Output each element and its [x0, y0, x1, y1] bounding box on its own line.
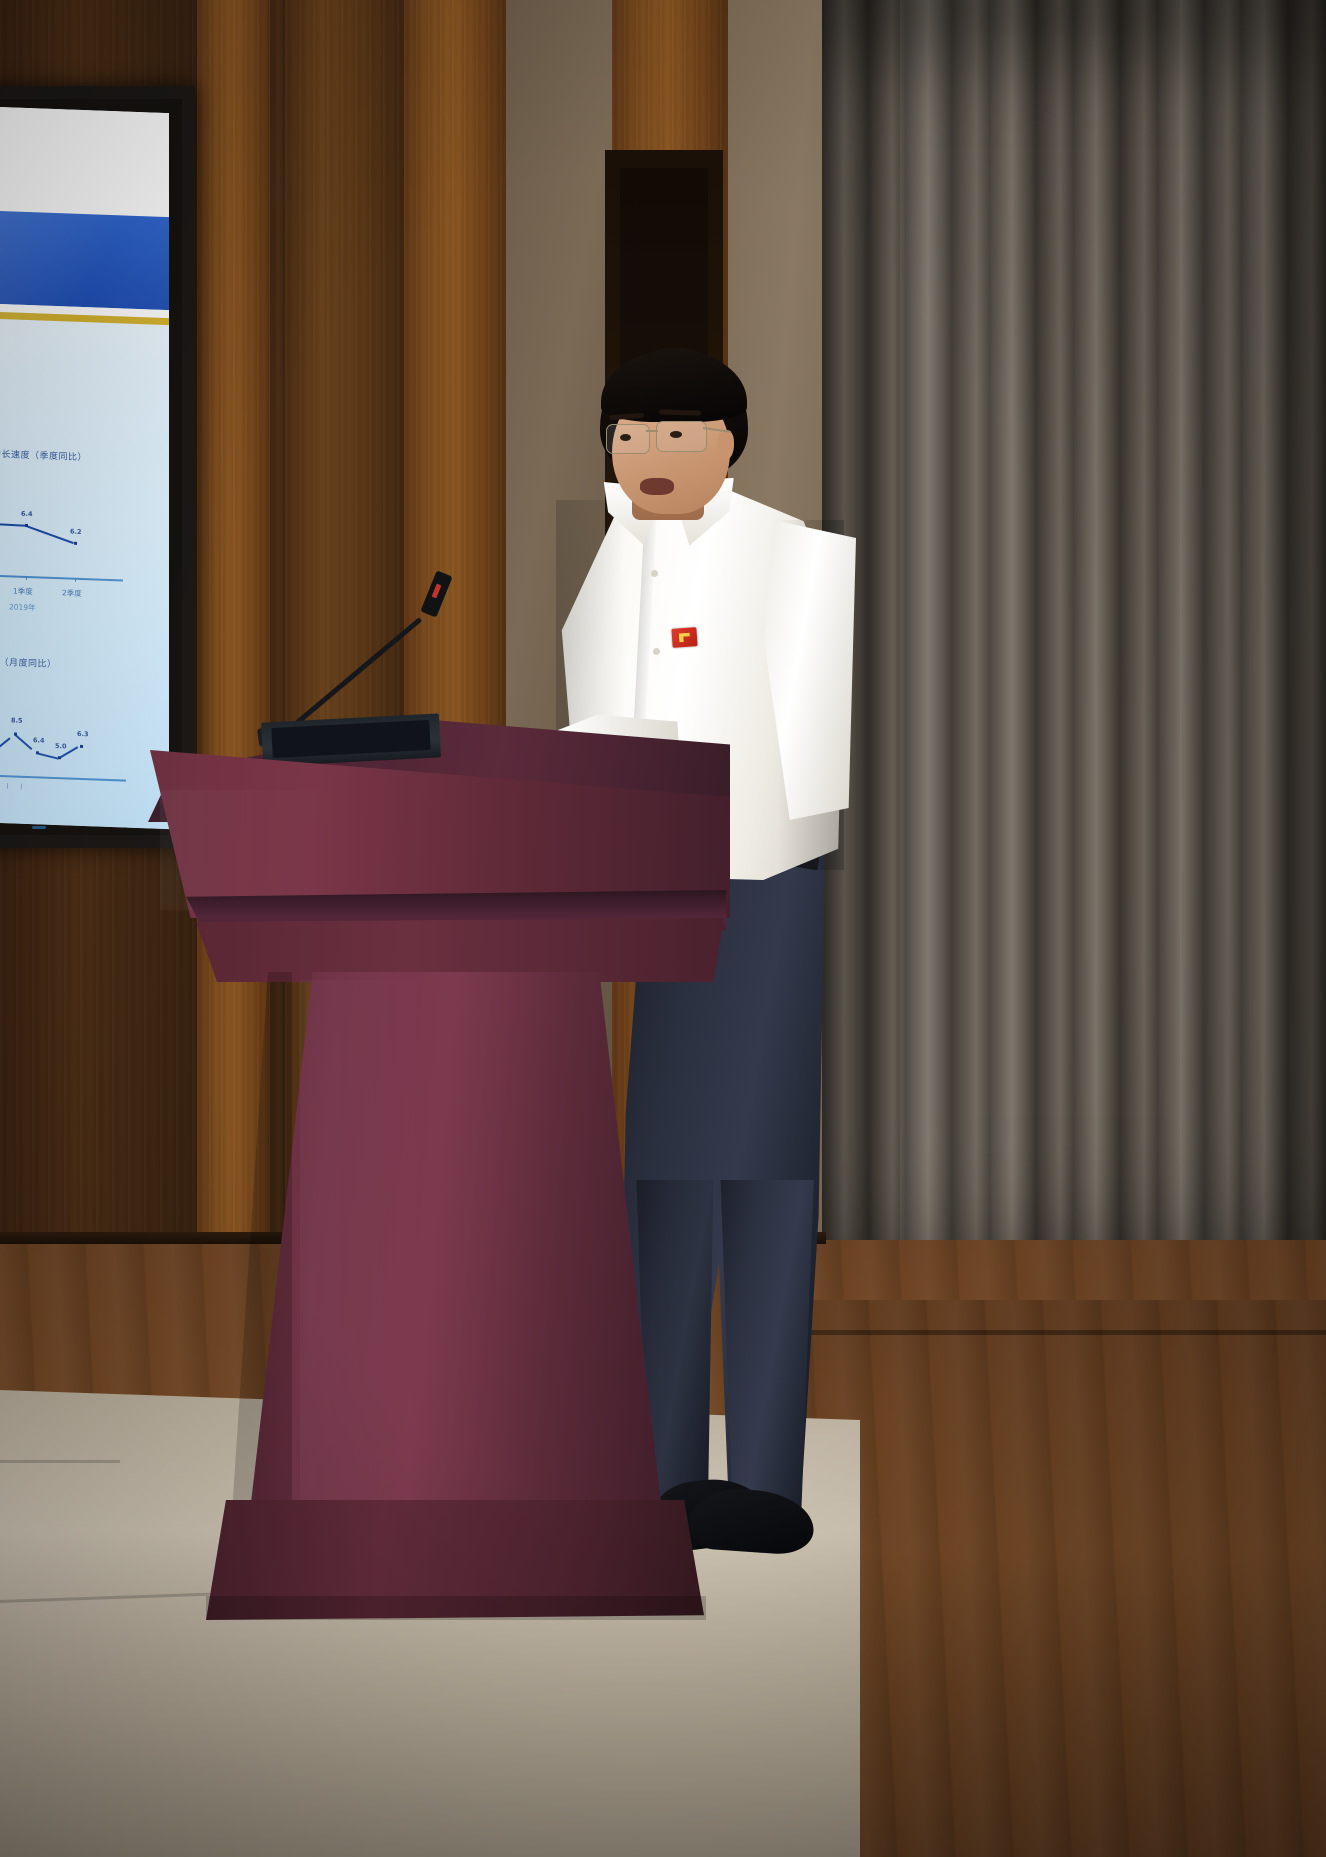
chart2-value-6: 5.0 — [55, 742, 67, 750]
chart1-value-2: 6.2 — [70, 528, 82, 536]
eyeglass-bridge — [646, 430, 658, 432]
chart1-point-1 — [25, 524, 28, 527]
chart2-point-7 — [80, 745, 83, 748]
chart1-point-2 — [74, 542, 77, 545]
speaker-mouth-open — [640, 478, 674, 495]
slide-header-white — [0, 106, 169, 217]
chart2-value-7: 6.3 — [77, 730, 89, 738]
floor-step-edge — [790, 1330, 1326, 1335]
chart2-value-3: 6.3 — [0, 736, 1, 744]
chart1-value-1: 6.4 — [21, 510, 33, 518]
eyeglass-lens-right — [656, 421, 707, 452]
photo-scene: 国内生产总值增长速度（季度同比） 6.4 6.4 6.2 4季度 1季度 2季度… — [0, 0, 1326, 1857]
chart1-xlabel-1: 1季度 — [13, 585, 33, 597]
chart1-year-label: 2019年 — [9, 601, 36, 613]
presentation-display: 国内生产总值增长速度（季度同比） 6.4 6.4 6.2 4季度 1季度 2季度… — [0, 86, 195, 848]
chart1-tick-1 — [26, 576, 27, 580]
chart2-point-4 — [14, 733, 17, 736]
podium-front-highlight — [160, 790, 340, 910]
podium-column-highlight — [300, 980, 430, 1500]
slide-header-band — [0, 210, 169, 310]
display-screen: 国内生产总值增长速度（季度同比） 6.4 6.4 6.2 4季度 1季度 2季度… — [0, 106, 169, 829]
display-power-led — [32, 826, 46, 829]
chart1-xlabel-2: 2季度 — [62, 587, 82, 599]
shirt-button-1 — [651, 570, 658, 577]
lapel-badge — [671, 627, 697, 648]
chart1-tick-2 — [75, 578, 76, 582]
speaker-eye-left — [620, 434, 631, 441]
chart2-point-5 — [36, 751, 39, 754]
chart2-value-5: 6.4 — [33, 736, 45, 744]
floor-wood-rear — [780, 1300, 1326, 1857]
chart2-value-4: 8.5 — [11, 716, 23, 724]
podium-base-shadow — [206, 1596, 706, 1620]
floor-seam-1 — [0, 1460, 120, 1463]
chart2-point-6 — [58, 756, 61, 759]
speaker-ear — [717, 430, 734, 460]
speaker-eye-right — [670, 431, 682, 438]
stage-curtain — [822, 0, 1326, 1390]
shirt-button-2 — [653, 648, 660, 655]
